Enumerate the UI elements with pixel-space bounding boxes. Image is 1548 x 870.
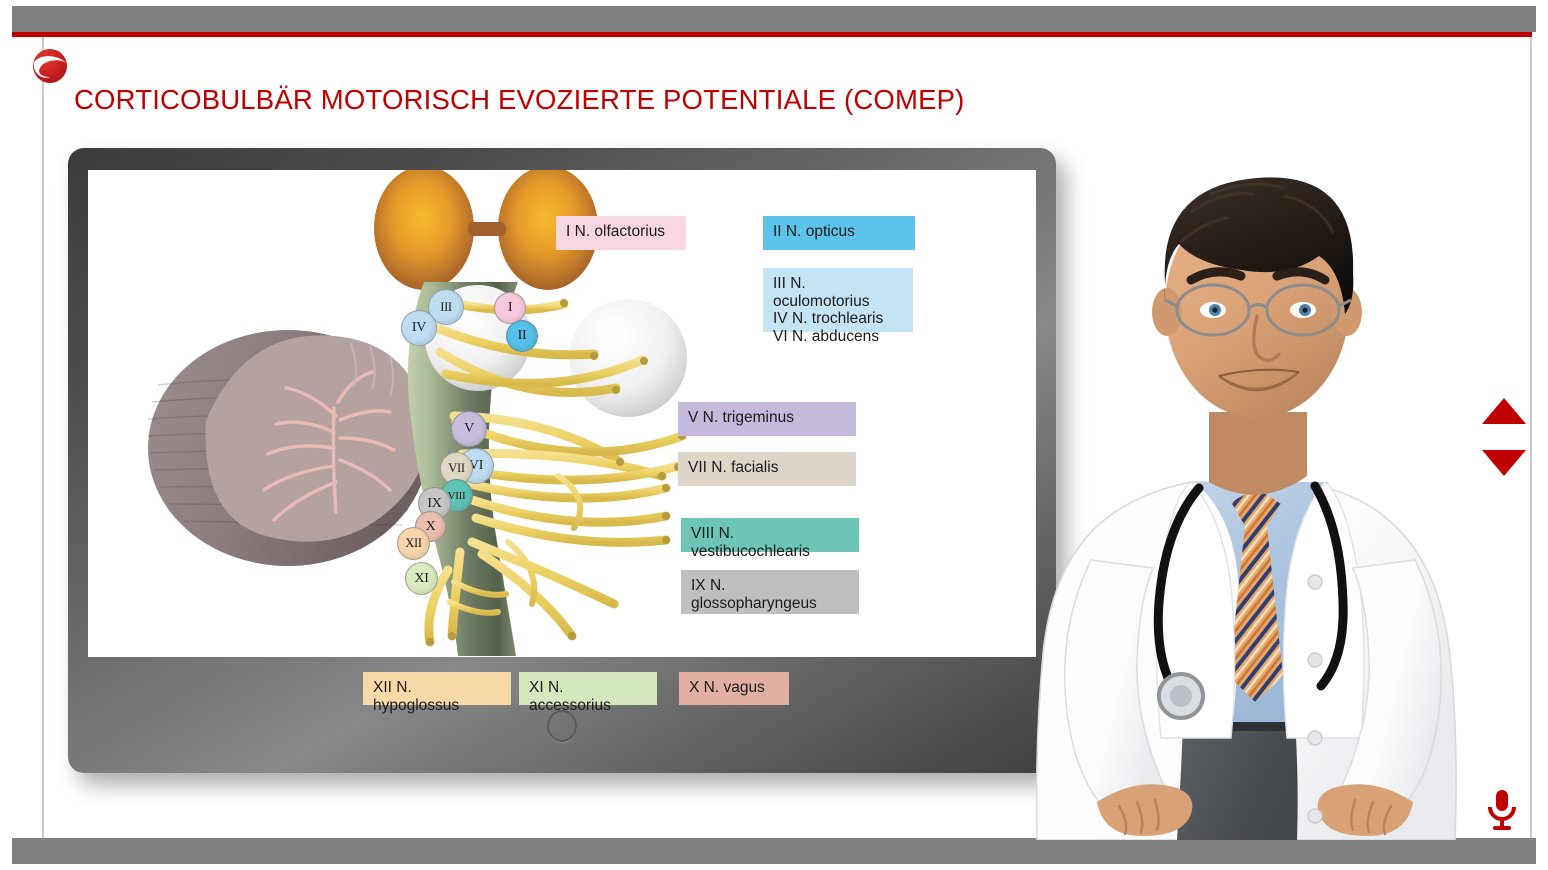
page-title: CORTICOBULBÄR MOTORISCH EVOZIERTE POTENT… [74, 84, 965, 116]
label-oculomotor-group[interactable]: III N. oculomotorius IV N. trochlearis V… [763, 268, 913, 332]
content-right-border [1530, 37, 1532, 838]
content-left-border [42, 37, 44, 838]
microphone-icon[interactable] [1482, 788, 1522, 832]
presenter-avatar [985, 130, 1485, 840]
nerve-badge-v[interactable]: V [451, 411, 487, 447]
label-accessorius[interactable]: XI N. accessorius [519, 672, 657, 705]
company-logo-icon [28, 44, 72, 88]
bottom-bar [12, 838, 1536, 864]
label-glossopharyngeus[interactable]: IX N. glossopharyngeus [681, 570, 859, 614]
label-facialis[interactable]: VII N. facialis [678, 452, 856, 486]
label-vestibucochlearis[interactable]: VIII N. vestibucochlearis [681, 518, 859, 552]
nerve-badge-xi[interactable]: XI [405, 562, 438, 595]
label-hypoglossus[interactable]: XII N. hypoglossus [363, 672, 511, 705]
home-button[interactable] [547, 710, 577, 742]
nerve-badge-ii[interactable]: II [506, 320, 538, 352]
label-vagus[interactable]: X N. vagus [679, 672, 789, 705]
nerve-badge-iv[interactable]: IV [401, 310, 437, 346]
nav-up-arrow-button[interactable] [1482, 398, 1526, 424]
label-opticus[interactable]: II N. opticus [763, 216, 915, 250]
label-trigeminus[interactable]: V N. trigeminus [678, 402, 856, 436]
label-olfactorius[interactable]: I N. olfactorius [556, 216, 686, 250]
header-accent-rule [12, 32, 1532, 37]
nerve-badge-xii[interactable]: XII [397, 527, 430, 560]
top-bar [12, 6, 1536, 32]
nav-down-arrow-button[interactable] [1482, 450, 1526, 476]
